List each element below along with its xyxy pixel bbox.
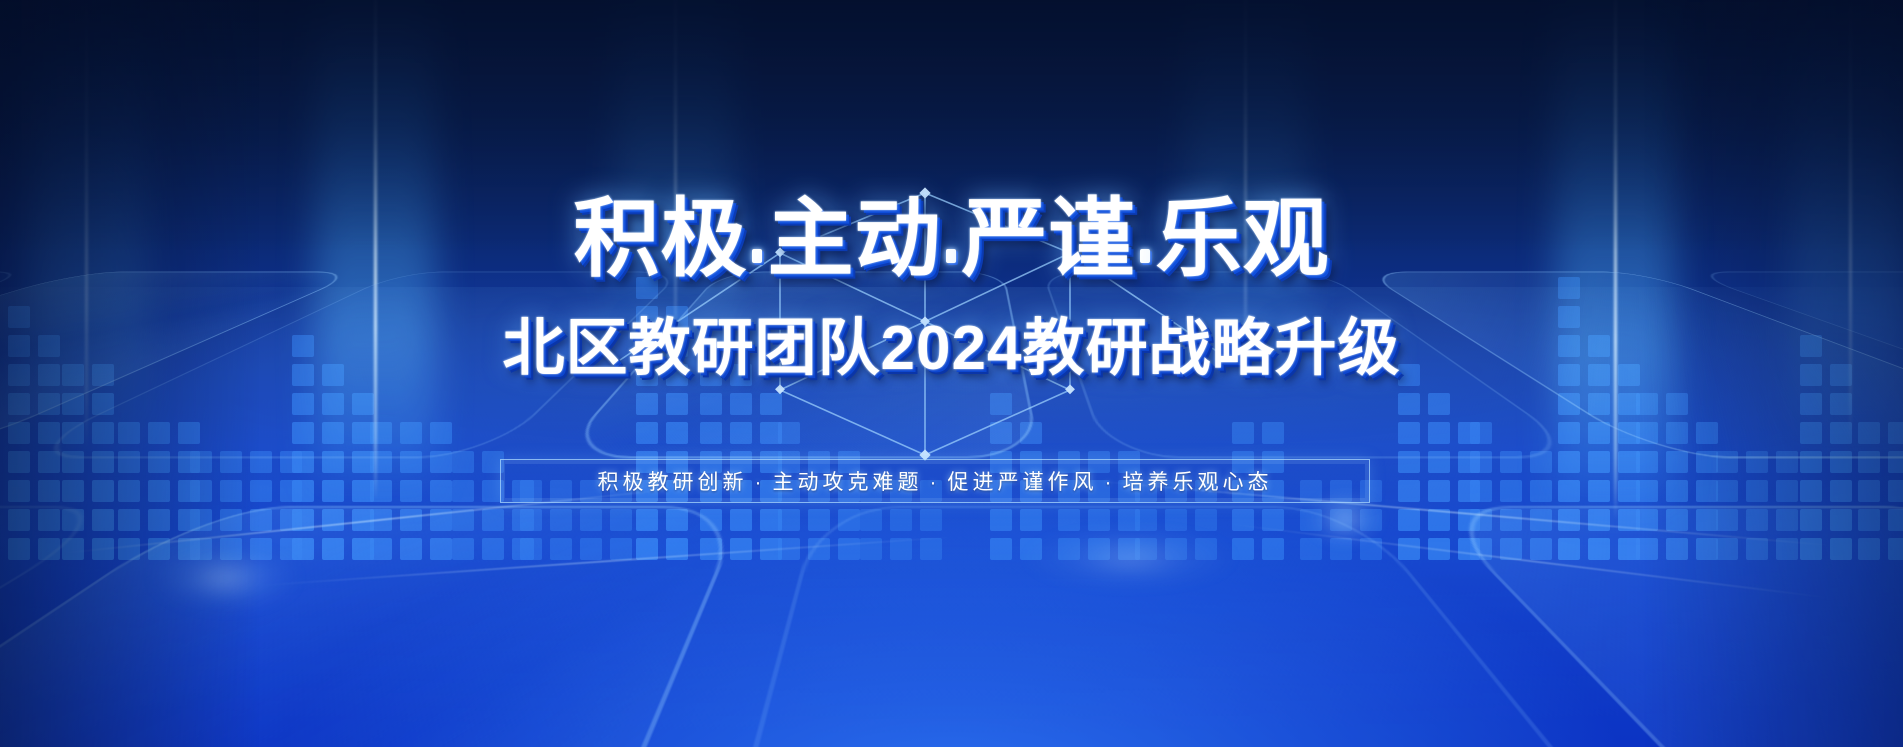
tagline-item: 促进严谨作风 [948,471,1098,494]
tagline-item: 培养乐观心态 [1123,471,1273,494]
tagline-item: 主动攻克难题 [773,471,923,494]
main-title-word: 主动 [768,191,942,287]
tagline-text: 积极教研创新·主动攻克难题·促进严谨作风·培养乐观心态 [598,466,1273,496]
main-title-word: 严谨 [962,191,1136,287]
banner-stage: 积极主动严谨乐观 北区教研团队2024教研战略升级 积极教研创新·主动攻克难题·… [0,0,1903,747]
tagline-separator-dot: · [755,471,766,494]
banner-content: 积极主动严谨乐观 北区教研团队2024教研战略升级 积极教研创新·主动攻克难题·… [0,0,1903,747]
title-separator-dot [946,249,956,263]
main-title-word: 积极 [574,191,748,287]
tagline-box: 积极教研创新·主动攻克难题·促进严谨作风·培养乐观心态 [500,459,1370,503]
tagline-separator-dot: · [930,471,941,494]
title-separator-dot [752,249,762,263]
banner-main-title: 积极主动严谨乐观 [0,196,1903,282]
tagline-separator-dot: · [1105,471,1116,494]
tagline-item: 积极教研创新 [598,471,748,494]
title-separator-dot [1140,249,1150,263]
banner-subtitle: 北区教研团队2024教研战略升级 [0,318,1903,380]
main-title-word: 乐观 [1156,191,1330,287]
